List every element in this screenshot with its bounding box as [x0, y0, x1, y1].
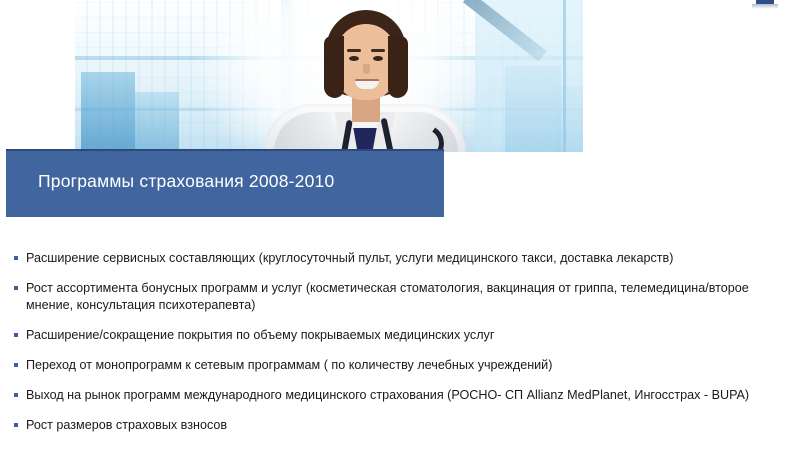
hair-strand-left	[324, 36, 344, 98]
bullet-list: Расширение сервисных составляющих (кругл…	[14, 250, 786, 447]
bullet-item: Расширение/сокращение покрытия по объему…	[14, 327, 786, 344]
eyebrow-left	[347, 49, 361, 52]
bullet-item: Расширение сервисных составляющих (кругл…	[14, 250, 786, 267]
slide-title: Программы страхования 2008-2010	[38, 171, 334, 192]
bullet-item: Переход от монопрограмм к сетевым програ…	[14, 357, 786, 374]
hero-glass-panel-edge	[563, 0, 566, 152]
doctor-figure	[260, 0, 470, 152]
corner-logo-fade	[752, 4, 778, 9]
hair-strand-right	[388, 36, 408, 98]
eye-left	[349, 56, 359, 61]
bullet-item: Рост ассортимента бонусных программ и ус…	[14, 280, 786, 314]
presentation-slide: Программы страхования 2008-2010 Расширен…	[0, 0, 800, 468]
eye-right	[373, 56, 383, 61]
hero-image	[75, 0, 583, 152]
bullet-item: Выход на рынок программ международного м…	[14, 387, 786, 404]
hero-building-left-2	[133, 92, 179, 152]
nose	[363, 64, 370, 74]
eyebrow-right	[371, 49, 385, 52]
hero-building-left	[81, 72, 135, 152]
title-banner: Программы страхования 2008-2010	[6, 149, 444, 217]
bullet-item: Рост размеров страховых взносов	[14, 417, 786, 434]
